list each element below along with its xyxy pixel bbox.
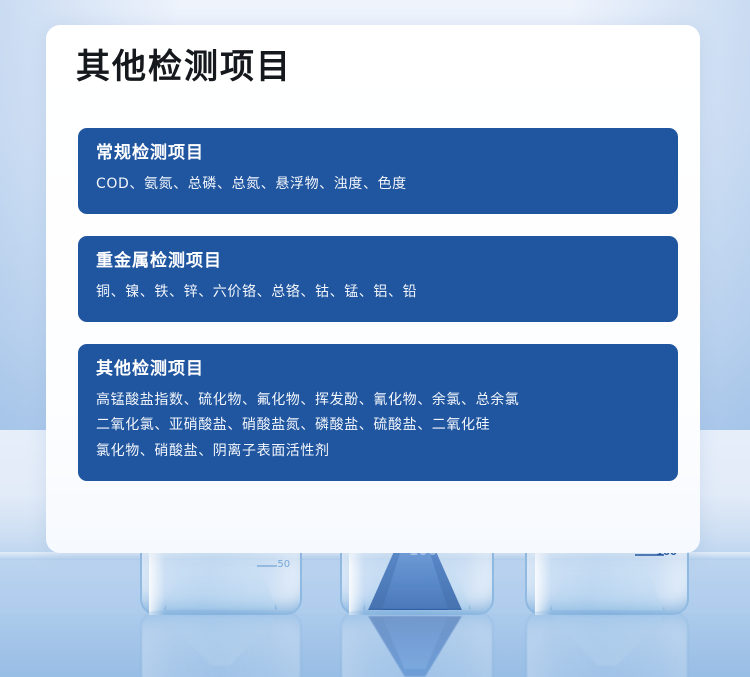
card-line: 高锰酸盐指数、硫化物、氟化物、挥发酚、氰化物、余氯、总余氯 bbox=[96, 388, 660, 414]
flask-left-reflection bbox=[140, 611, 298, 677]
flask-right-reflection bbox=[525, 611, 685, 677]
test-category-card-regular[interactable]: 常规检测项目 COD、氨氮、总磷、总氮、悬浮物、浊度、色度 bbox=[78, 128, 678, 214]
card-line: 氯化物、硝酸盐、阴离子表面活性剂 bbox=[96, 439, 660, 465]
page-title: 其他检测项目 bbox=[76, 50, 292, 84]
flask-middle-reflection bbox=[340, 611, 490, 677]
card-title: 重金属检测项目 bbox=[96, 250, 660, 273]
test-category-card-other[interactable]: 其他检测项目 高锰酸盐指数、硫化物、氟化物、挥发酚、氰化物、余氯、总余氯 二氧化… bbox=[78, 344, 678, 482]
flask-tick bbox=[257, 565, 278, 567]
test-category-card-heavy-metal[interactable]: 重金属检测项目 铜、镍、铁、锌、六价铬、总铬、钴、锰、铝、铅 bbox=[78, 236, 678, 322]
card-title: 常规检测项目 bbox=[96, 142, 660, 165]
test-item-card-list: 常规检测项目 COD、氨氮、总磷、总氮、悬浮物、浊度、色度 重金属检测项目 铜、… bbox=[78, 128, 678, 481]
flask-graduation-50: 50 bbox=[277, 559, 290, 570]
card-line: 铜、镍、铁、锌、六价铬、总铬、钴、锰、铝、铅 bbox=[96, 280, 660, 306]
content-panel: 其他检测项目 常规检测项目 COD、氨氮、总磷、总氮、悬浮物、浊度、色度 重金属… bbox=[46, 25, 700, 553]
card-line: COD、氨氮、总磷、总氮、悬浮物、浊度、色度 bbox=[96, 172, 660, 198]
card-title: 其他检测项目 bbox=[96, 358, 660, 381]
promo-page: GG-17 250ml 150 100 50 100 bbox=[0, 0, 750, 677]
card-line: 二氧化氯、亚硝酸盐、硝酸盐氮、磷酸盐、硫酸盐、二氧化硅 bbox=[96, 413, 660, 439]
